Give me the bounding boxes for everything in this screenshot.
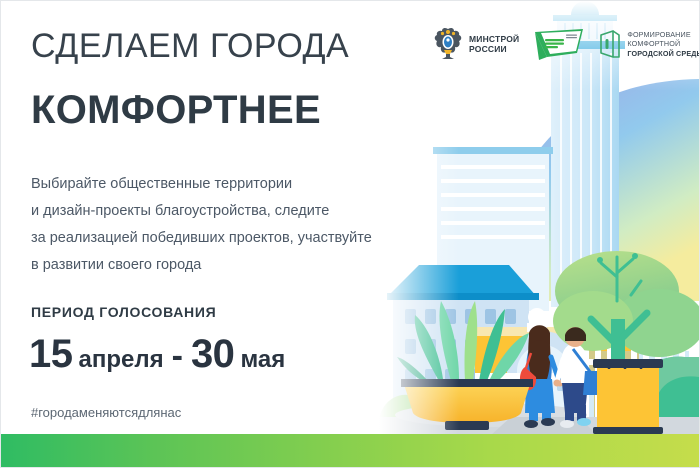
trash-bin	[593, 359, 663, 434]
date-start-number: 15	[29, 331, 73, 377]
background-hill	[499, 79, 699, 301]
green-chevron-icon	[533, 27, 585, 61]
double-headed-eagle-icon	[433, 27, 463, 61]
woman-figure	[520, 325, 564, 428]
body-copy: Выбирайте общественные территории и диза…	[31, 171, 501, 279]
walking-couple	[520, 325, 597, 428]
logo-row: МИНСТРОЙ РОССИИ	[433, 27, 700, 61]
voting-period-dates: 15 апреля - 30 мая	[29, 331, 285, 383]
page-title-line2: КОМФОРТНЕЕ	[31, 87, 321, 133]
logo-comfortable-urban-environment: ФОРМИРОВАНИЕ КОМФОРТНОЙ ГОРОДСКОЙ СРЕДЫ	[599, 29, 700, 59]
bottom-gradient-bar	[1, 434, 699, 467]
classical-building	[387, 265, 539, 417]
fks-line1: ФОРМИРОВАНИЕ	[627, 30, 700, 39]
date-separator: -	[172, 333, 183, 379]
logo-minstroy-rossii: МИНСТРОЙ РОССИИ	[433, 27, 519, 61]
man-figure	[554, 327, 598, 428]
planter-with-agave	[397, 301, 533, 430]
date-end-month: мая	[240, 337, 285, 383]
white-fence	[579, 347, 691, 419]
body-line-2: и дизайн-проекты благоустройства, следит…	[31, 198, 501, 225]
minstroy-logo-text: МИНСТРОЙ РОССИИ	[469, 34, 519, 55]
ground	[379, 403, 699, 435]
fks-line3: ГОРОДСКОЙ СРЕДЫ	[627, 49, 700, 58]
body-line-3: за реализацией победивших проектов, учас…	[31, 225, 501, 252]
minstroy-line1: МИНСТРОЙ	[469, 34, 519, 45]
date-start-month: апреля	[79, 337, 164, 383]
fks-logo-text: ФОРМИРОВАНИЕ КОМФОРТНОЙ ГОРОДСКОЙ СРЕДЫ	[627, 30, 700, 58]
arch-building	[475, 308, 639, 421]
poster-canvas: МИНСТРОЙ РОССИИ	[0, 0, 700, 468]
fks-line2: КОМФОРТНОЙ	[627, 39, 700, 48]
agave-leaves	[397, 301, 529, 383]
minstroy-line2: РОССИИ	[469, 44, 519, 55]
voting-period-label: ПЕРИОД ГОЛОСОВАНИЯ	[31, 304, 216, 320]
page-title-line1: СДЕЛАЕМ ГОРОДА	[31, 26, 349, 66]
logo-national-projects	[533, 27, 585, 61]
date-end-number: 30	[191, 331, 235, 377]
body-line-4: в развитии своего города	[31, 252, 501, 279]
open-door-icon	[599, 29, 621, 59]
campaign-hashtag: #городаменяютсядлянас	[31, 405, 181, 420]
body-line-1: Выбирайте общественные территории	[31, 171, 501, 198]
